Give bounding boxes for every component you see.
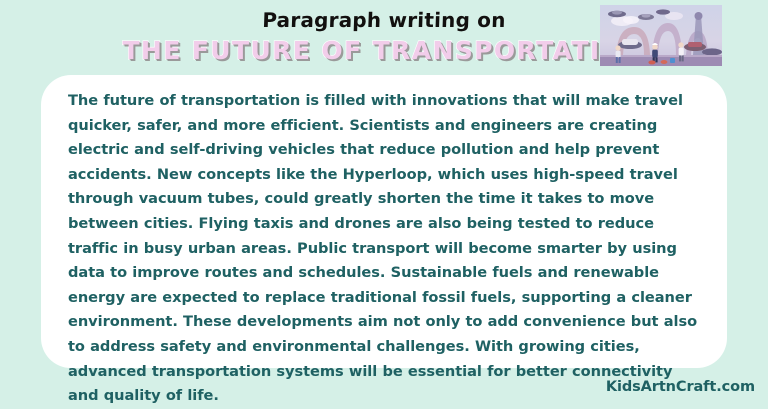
paragraph-card: The future of transportation is filled w… <box>41 75 727 368</box>
city-illustration-svg <box>600 5 722 66</box>
poster-root: Paragraph writing on THE FUTURE OF TRANS… <box>0 0 768 403</box>
paragraph-body: The future of transportation is filled w… <box>68 89 702 409</box>
futuristic-city-illustration <box>600 5 722 66</box>
brand-watermark: KidsArtnCraft.com <box>606 379 755 395</box>
